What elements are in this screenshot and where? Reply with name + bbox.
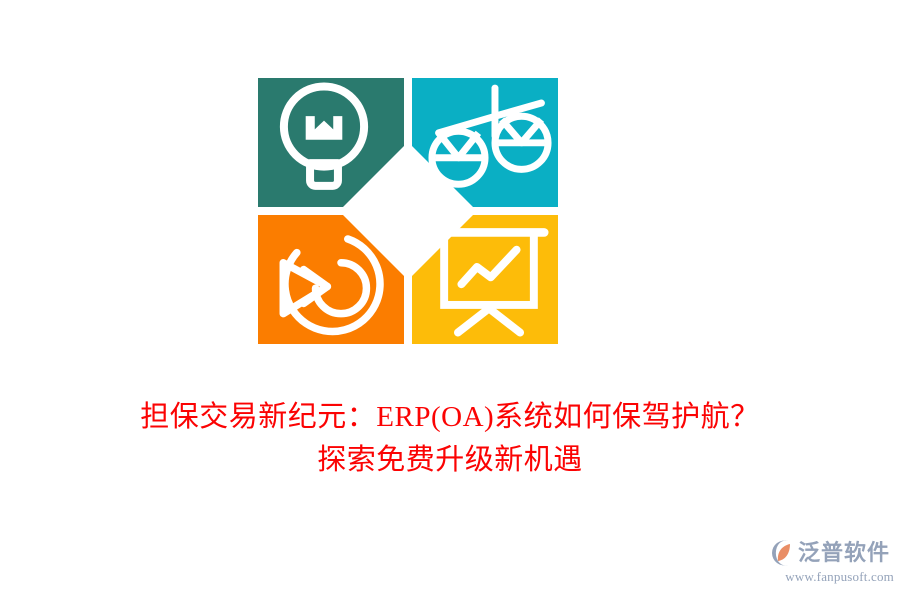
- quadrant-top-left: [258, 78, 404, 207]
- headline-line-1: 担保交易新纪元：ERP(OA)系统如何保驾护航？: [0, 396, 900, 439]
- balance-scale-icon: [412, 78, 558, 207]
- headline-line-2: 探索免费升级新机遇: [0, 439, 900, 482]
- balance-scale-icon-svg: [422, 75, 558, 204]
- fanpu-crescent-logo-icon: [766, 538, 796, 568]
- watermark-brand-text: 泛普软件: [798, 540, 890, 566]
- lightbulb-idea-icon-svg: [251, 76, 397, 205]
- pie-chart-arrow-icon: [258, 215, 404, 344]
- watermark: 泛普软件 www.fanpusoft.com: [766, 538, 894, 586]
- quadrant-bottom-right: [412, 215, 558, 344]
- watermark-brand-row: 泛普软件: [766, 538, 894, 568]
- four-quadrant-pinwheel-graphic: [258, 78, 558, 344]
- page-canvas: 担保交易新纪元：ERP(OA)系统如何保驾护航？ 探索免费升级新机遇 泛普软件 …: [0, 0, 900, 600]
- pie-chart-arrow-icon-svg: [251, 222, 397, 351]
- quadrant-top-right: [412, 78, 558, 207]
- watermark-url-text: www.fanpusoft.com: [766, 569, 894, 585]
- lightbulb-idea-icon: [258, 78, 404, 207]
- presentation-chart-icon: [412, 215, 558, 344]
- headline-text: 担保交易新纪元：ERP(OA)系统如何保驾护航？ 探索免费升级新机遇: [0, 396, 900, 482]
- quadrant-bottom-left: [258, 215, 404, 344]
- presentation-chart-icon-svg: [420, 218, 558, 347]
